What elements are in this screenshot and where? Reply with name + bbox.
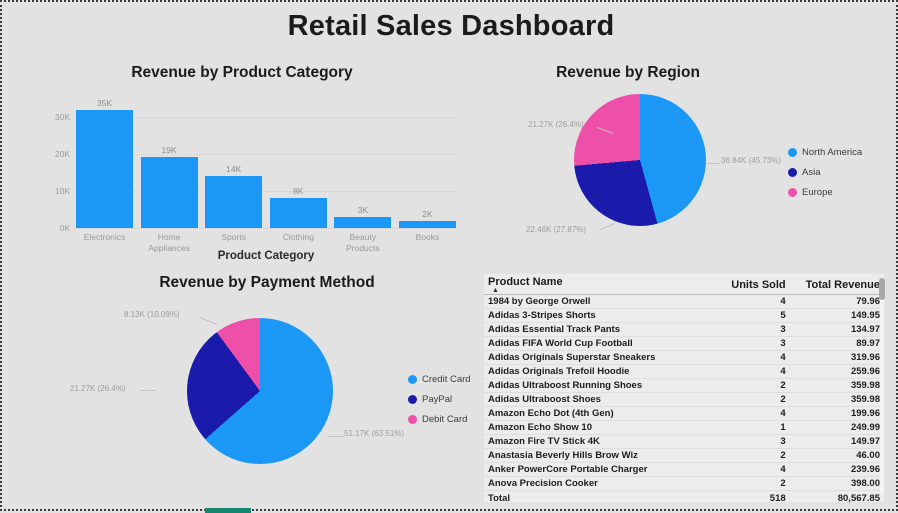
bar-value-label: 8K bbox=[293, 186, 303, 196]
cell-total-revenue: 80,567.85 bbox=[790, 491, 884, 506]
table-row[interactable]: Amazon Echo Show 101249.99 bbox=[484, 421, 884, 435]
region-chart-title: Revenue by Region bbox=[468, 64, 788, 82]
cell-total-label: Total bbox=[484, 491, 707, 506]
cell-product-name: Anker PowerCore Portable Charger bbox=[484, 463, 707, 477]
legend-label: Asia bbox=[802, 167, 820, 178]
payment-slice-label-paypal: 21.27K (26.4%) bbox=[70, 384, 126, 393]
cell-units: 2 bbox=[707, 477, 790, 491]
cell-units: 3 bbox=[707, 435, 790, 449]
cell-product-name: Adidas 3-Stripes Shorts bbox=[484, 309, 707, 323]
bar-item[interactable]: 35K bbox=[76, 98, 133, 228]
cell-units: 3 bbox=[707, 337, 790, 351]
legend-item-debit-card[interactable]: Debit Card bbox=[408, 414, 471, 425]
cell-product-name: Amazon Echo Show 10 bbox=[484, 421, 707, 435]
cell-product-name: Adidas Essential Track Pants bbox=[484, 323, 707, 337]
table-scrollbar-thumb[interactable] bbox=[879, 278, 885, 300]
cell-units: 4 bbox=[707, 463, 790, 477]
cell-units: 2 bbox=[707, 379, 790, 393]
bar-rect[interactable] bbox=[399, 221, 456, 228]
cell-units: 1 bbox=[707, 421, 790, 435]
payment-pie-graphic[interactable] bbox=[187, 318, 333, 464]
legend-label: North America bbox=[802, 147, 862, 158]
bar-value-label: 14K bbox=[226, 164, 241, 174]
cell-revenue: 249.99 bbox=[790, 421, 884, 435]
cell-revenue: 359.98 bbox=[790, 379, 884, 393]
bar-rect[interactable] bbox=[141, 157, 198, 228]
table-row[interactable]: Adidas Essential Track Pants3134.97 bbox=[484, 323, 884, 337]
y-tick-3: 30K bbox=[55, 112, 70, 122]
legend-label: Debit Card bbox=[422, 414, 467, 425]
bar-chart-plot-area: 35K 19K 14K 8K 3K bbox=[76, 98, 456, 228]
table-row[interactable]: 1984 by George Orwell479.96 bbox=[484, 295, 884, 309]
y-tick-1: 10K bbox=[55, 186, 70, 196]
table-scrollbar-track[interactable] bbox=[880, 280, 884, 495]
legend-item-paypal[interactable]: PayPal bbox=[408, 394, 471, 405]
region-slice-label-north-america: 36.84K (45.73%) bbox=[721, 156, 781, 165]
cell-units: 2 bbox=[707, 449, 790, 463]
legend-item-europe[interactable]: Europe bbox=[788, 187, 862, 198]
payment-legend: Credit Card PayPal Debit Card bbox=[408, 374, 471, 434]
revenue-by-region-chart[interactable]: Revenue by Region 36.84K (45.73%) 22.46K… bbox=[468, 64, 888, 270]
bar-chart-title: Revenue by Product Category bbox=[20, 64, 464, 82]
legend-color-swatch-icon bbox=[408, 415, 417, 424]
bar-value-label: 19K bbox=[162, 145, 177, 155]
cell-revenue: 239.96 bbox=[790, 463, 884, 477]
legend-color-swatch-icon bbox=[788, 148, 797, 157]
bar-item[interactable]: 2K bbox=[399, 98, 456, 228]
table-row[interactable]: Adidas Ultraboost Shoes2359.98 bbox=[484, 393, 884, 407]
cell-product-name: Anova Precision Cooker bbox=[484, 477, 707, 491]
table-row[interactable]: Anker PowerCore Portable Charger4239.96 bbox=[484, 463, 884, 477]
bar-chart-x-axis-title: Product Category bbox=[76, 250, 456, 262]
payment-chart-title: Revenue by Payment Method bbox=[132, 274, 402, 292]
table-row[interactable]: Adidas FIFA World Cup Football389.97 bbox=[484, 337, 884, 351]
legend-color-swatch-icon bbox=[788, 168, 797, 177]
cell-product-name: Amazon Fire TV Stick 4K bbox=[484, 435, 707, 449]
cell-product-name: 1984 by George Orwell bbox=[484, 295, 707, 309]
cell-product-name: Amazon Echo Dot (4th Gen) bbox=[484, 407, 707, 421]
y-tick-0: 0K bbox=[60, 223, 70, 233]
bar-item[interactable]: 19K bbox=[141, 98, 198, 228]
bar-rect[interactable] bbox=[334, 217, 391, 228]
revenue-by-product-category-chart[interactable]: Revenue by Product Category 0K 10K 20K 3… bbox=[20, 64, 464, 270]
region-legend: North America Asia Europe bbox=[788, 147, 862, 207]
region-slice-label-europe: 21.27K (26.4%) bbox=[528, 120, 584, 129]
bar-rect[interactable] bbox=[270, 198, 327, 228]
column-header-label: Product Name bbox=[488, 276, 563, 288]
table-row[interactable]: Anova Precision Cooker2398.00 bbox=[484, 477, 884, 491]
legend-item-north-america[interactable]: North America bbox=[788, 147, 862, 158]
table-header-row: Product Name ▲ Units Sold Total Revenue bbox=[484, 274, 884, 295]
product-table-grid: Product Name ▲ Units Sold Total Revenue … bbox=[484, 274, 884, 505]
cell-units: 4 bbox=[707, 407, 790, 421]
cell-units: 5 bbox=[707, 309, 790, 323]
bar-item[interactable]: 14K bbox=[205, 98, 262, 228]
legend-label: Europe bbox=[802, 187, 833, 198]
cell-revenue: 359.98 bbox=[790, 393, 884, 407]
cell-revenue: 79.96 bbox=[790, 295, 884, 309]
payment-slice-label-debit-card: 8.13K (10.09%) bbox=[124, 310, 180, 319]
column-header-product-name[interactable]: Product Name ▲ bbox=[484, 274, 707, 295]
table-row[interactable]: Adidas Originals Superstar Sneakers4319.… bbox=[484, 351, 884, 365]
bar-rect[interactable] bbox=[76, 110, 133, 228]
sort-ascending-icon[interactable]: ▲ bbox=[488, 288, 703, 293]
cell-units: 3 bbox=[707, 323, 790, 337]
page-title: Retail Sales Dashboard bbox=[2, 10, 898, 43]
cell-units: 4 bbox=[707, 351, 790, 365]
cell-revenue: 259.96 bbox=[790, 365, 884, 379]
revenue-by-payment-method-chart[interactable]: Revenue by Payment Method 51.17K (63.51%… bbox=[132, 274, 482, 504]
legend-item-credit-card[interactable]: Credit Card bbox=[408, 374, 471, 385]
bar-value-label: 2K bbox=[422, 209, 432, 219]
table-scrollbar[interactable] bbox=[878, 274, 886, 502]
cell-product-name: Adidas FIFA World Cup Football bbox=[484, 337, 707, 351]
cell-revenue: 134.97 bbox=[790, 323, 884, 337]
bar-item[interactable]: 8K bbox=[270, 98, 327, 228]
bar-value-label: 35K bbox=[97, 98, 112, 108]
bar-value-label: 3K bbox=[358, 205, 368, 215]
legend-color-swatch-icon bbox=[408, 375, 417, 384]
region-slice-label-asia: 22.46K (27.87%) bbox=[526, 225, 586, 234]
legend-color-swatch-icon bbox=[788, 188, 797, 197]
table-row[interactable]: Anastasia Beverly Hills Brow Wiz246.00 bbox=[484, 449, 884, 463]
cell-revenue: 89.97 bbox=[790, 337, 884, 351]
payment-slice-label-credit-card: 51.17K (63.51%) bbox=[344, 429, 404, 438]
product-table[interactable]: Product Name ▲ Units Sold Total Revenue … bbox=[484, 274, 884, 502]
cell-units: 2 bbox=[707, 393, 790, 407]
table-row[interactable]: Adidas 3-Stripes Shorts5149.95 bbox=[484, 309, 884, 323]
cell-units: 4 bbox=[707, 365, 790, 379]
column-header-total-revenue[interactable]: Total Revenue bbox=[790, 274, 884, 295]
y-tick-2: 20K bbox=[55, 149, 70, 159]
dashboard-page: Retail Sales Dashboard Revenue by Produc… bbox=[0, 0, 898, 511]
cell-product-name: Anastasia Beverly Hills Brow Wiz bbox=[484, 449, 707, 463]
table-total-row: Total 518 80,567.85 bbox=[484, 491, 884, 506]
table-row[interactable]: Amazon Fire TV Stick 4K3149.97 bbox=[484, 435, 884, 449]
table-row[interactable]: Adidas Ultraboost Running Shoes2359.98 bbox=[484, 379, 884, 393]
cell-total-units: 518 bbox=[707, 491, 790, 506]
legend-item-asia[interactable]: Asia bbox=[788, 167, 862, 178]
table-row[interactable]: Amazon Echo Dot (4th Gen)4199.96 bbox=[484, 407, 884, 421]
cell-product-name: Adidas Originals Trefoil Hoodie bbox=[484, 365, 707, 379]
column-header-units-sold[interactable]: Units Sold bbox=[707, 274, 790, 295]
region-pie-graphic[interactable] bbox=[574, 94, 706, 226]
cell-revenue: 398.00 bbox=[790, 477, 884, 491]
cell-revenue: 46.00 bbox=[790, 449, 884, 463]
legend-color-swatch-icon bbox=[408, 395, 417, 404]
cell-units: 4 bbox=[707, 295, 790, 309]
table-body: 1984 by George Orwell479.96 Adidas 3-Str… bbox=[484, 295, 884, 506]
cell-revenue: 199.96 bbox=[790, 407, 884, 421]
cell-revenue: 149.97 bbox=[790, 435, 884, 449]
legend-label: Credit Card bbox=[422, 374, 471, 385]
cell-revenue: 319.96 bbox=[790, 351, 884, 365]
cell-product-name: Adidas Ultraboost Shoes bbox=[484, 393, 707, 407]
cell-product-name: Adidas Originals Superstar Sneakers bbox=[484, 351, 707, 365]
table-row[interactable]: Adidas Originals Trefoil Hoodie4259.96 bbox=[484, 365, 884, 379]
cell-revenue: 149.95 bbox=[790, 309, 884, 323]
bar-chart-y-axis: 0K 10K 20K 30K bbox=[20, 98, 70, 228]
cell-product-name: Adidas Ultraboost Running Shoes bbox=[484, 379, 707, 393]
bar-series: 35K 19K 14K 8K 3K bbox=[76, 98, 456, 228]
legend-label: PayPal bbox=[422, 394, 452, 405]
bar-item[interactable]: 3K bbox=[334, 98, 391, 228]
bar-rect[interactable] bbox=[205, 176, 262, 228]
